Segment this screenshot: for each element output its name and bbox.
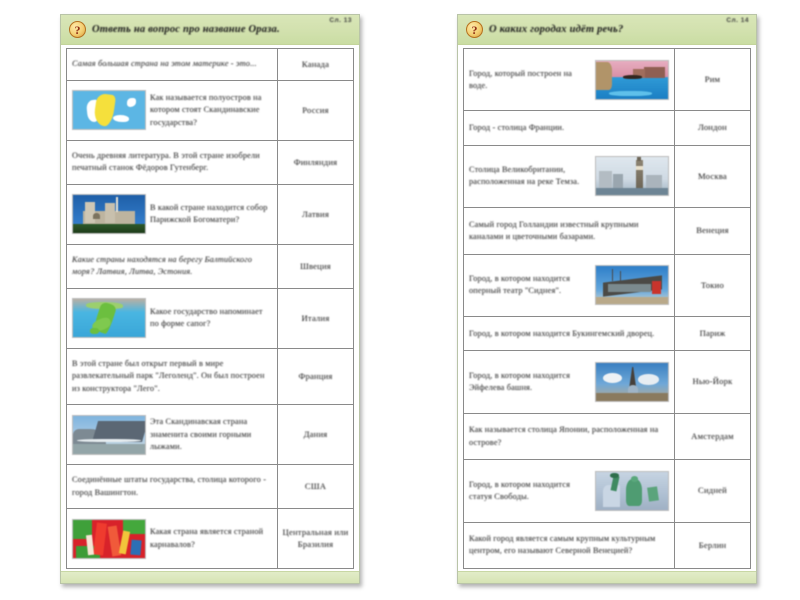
question-text: Какая страна является страной карнавалов… xyxy=(150,526,272,550)
question-cell: Какое государство напоминает по форме са… xyxy=(67,289,277,348)
table-row[interactable]: Город, в котором находится Эйфелева башн… xyxy=(463,350,751,412)
question-text: Город, в котором находится Букингемский … xyxy=(469,328,669,340)
answer-cell: Швеция xyxy=(277,245,353,288)
venice-photo-image xyxy=(595,60,669,100)
answer-cell: Италия xyxy=(277,289,353,348)
answer-cell: Берлин xyxy=(674,523,750,568)
question-cell: Город, в котором находится Эйфелева башн… xyxy=(464,351,674,412)
answer-cell: Рим xyxy=(674,49,750,110)
question-cell: Очень древняя литература. В этой стране … xyxy=(67,141,277,184)
answer-cell: Канада xyxy=(277,49,353,80)
answer-text: Лондон xyxy=(698,122,727,134)
answer-text: США xyxy=(305,481,326,493)
slide-title: О каких городах идёт речь? xyxy=(489,24,623,35)
slide-header-left: ? Ответь на вопрос про название Ораза. С… xyxy=(61,15,359,45)
answer-text: Латвия xyxy=(302,209,329,221)
table-row[interactable]: Очень древняя литература. В этой стране … xyxy=(66,140,354,184)
question-cell: Самая большая страна на этом материке - … xyxy=(67,49,277,80)
answer-cell: Лондон xyxy=(674,111,750,144)
slide-geography-cities[interactable]: ? О каких городах идёт речь? Сл. 14 Горо… xyxy=(457,14,757,584)
question-text: Город - столица Франции. xyxy=(469,122,669,134)
question-cell: Самый город Голландии известный крупными… xyxy=(464,208,674,253)
question-text: Соединённые штаты государства, столица к… xyxy=(72,474,272,498)
question-text: Самый город Голландии известный крупными… xyxy=(469,219,669,243)
question-text: Как называется столица Японии, расположе… xyxy=(469,424,669,448)
answer-text: Дания xyxy=(304,429,328,441)
answer-cell: Финляндия xyxy=(277,141,353,184)
bridge-photo-image xyxy=(72,415,146,455)
slide-geography-countries[interactable]: ? Ответь на вопрос про название Ораза. С… xyxy=(60,14,360,584)
question-cell: Какие страны находятся на берегу Балтийс… xyxy=(67,245,277,288)
table-row[interactable]: Город, в котором находится статуя Свобод… xyxy=(463,459,751,521)
question-text: Какие страны находятся на берегу Балтийс… xyxy=(72,254,272,278)
table-row[interactable]: Город, в котором находится Букингемский … xyxy=(463,316,751,350)
table-row[interactable]: Какие страны находятся на берегу Балтийс… xyxy=(66,244,354,288)
question-text: Очень древняя литература. В этой стране … xyxy=(72,150,272,174)
scandinavia-map-image xyxy=(72,90,146,130)
question-cell: Соединённые штаты государства, столица к… xyxy=(67,465,277,508)
question-text: Какой город является самым крупным культ… xyxy=(469,533,669,557)
question-cell: Город, в котором находится оперный театр… xyxy=(464,255,674,316)
slide-footer-right xyxy=(458,571,756,583)
question-cell: Город, который построен на воде. xyxy=(464,49,674,110)
eiffel-photo-image xyxy=(595,362,669,402)
table-row[interactable]: Как называется столица Японии, расположе… xyxy=(463,413,751,459)
table-row[interactable]: Какое государство напоминает по форме са… xyxy=(66,288,354,348)
table-row[interactable]: Самый город Голландии известный крупными… xyxy=(463,207,751,253)
question-text: Город, в котором находится оперный театр… xyxy=(469,273,591,297)
answer-text: Италия xyxy=(302,313,330,325)
answer-cell: Амстердам xyxy=(674,414,750,459)
question-cell: Город, в котором находится статуя Свобод… xyxy=(464,460,674,521)
question-cell: Город - столица Франции. xyxy=(464,111,674,144)
modern-building-photo-image xyxy=(595,265,669,305)
slide-title: Ответь на вопрос про название Ораза. xyxy=(92,24,280,35)
answer-text: Канада xyxy=(302,59,329,71)
answer-text: Москва xyxy=(698,171,727,183)
question-cell: В этой стране был открыт первый в мире р… xyxy=(67,349,277,404)
question-cell: Столица Великобритании, расположенная на… xyxy=(464,146,674,207)
cathedral-photo-image xyxy=(72,194,146,234)
carnival-photo-image xyxy=(72,519,146,559)
answer-cell: Латвия xyxy=(277,185,353,244)
answer-cell: Россия xyxy=(277,81,353,140)
question-mark-glyph: ? xyxy=(75,24,81,36)
question-text: Эта Скандинавская страна знаменита своим… xyxy=(150,416,272,452)
answer-cell: Франция xyxy=(277,349,353,404)
answer-text: Швеция xyxy=(300,261,331,273)
table-row[interactable]: Город - столица Франции. Лондон xyxy=(463,110,751,144)
question-text: Какое государство напоминает по форме са… xyxy=(150,306,272,330)
answer-text: Центральная или Бразилия xyxy=(281,527,350,550)
question-text: Город, который построен на воде. xyxy=(469,68,591,92)
answer-text: Берлин xyxy=(699,540,727,552)
question-text: Город, в котором находится Эйфелева башн… xyxy=(469,370,591,394)
table-row[interactable]: Как называется полуостров на котором сто… xyxy=(66,80,354,140)
question-cell: Как называется полуостров на котором сто… xyxy=(67,81,277,140)
london-photo-image xyxy=(595,156,669,196)
answer-cell: Нью-Йорк xyxy=(674,351,750,412)
answer-cell: Москва xyxy=(674,146,750,207)
answer-text: Токио xyxy=(701,280,724,292)
table-row[interactable]: Какой город является самым крупным культ… xyxy=(463,522,751,569)
italy-map-image xyxy=(72,298,146,338)
question-text: Как называется полуостров на котором сто… xyxy=(150,92,272,128)
quiz-table-left: Самая большая страна на этом материке - … xyxy=(61,45,359,571)
question-cell: Город, в котором находится Букингемский … xyxy=(464,317,674,350)
slide-number: Сл. 13 xyxy=(329,17,352,24)
question-cell: Как называется столица Японии, расположе… xyxy=(464,414,674,459)
quiz-table-right: Город, который построен на воде. Рим Гор… xyxy=(458,45,756,571)
answer-cell: Токио xyxy=(674,255,750,316)
answer-text: Россия xyxy=(302,105,328,117)
question-cell: Какой город является самым крупным культ… xyxy=(464,523,674,568)
question-text: Столица Великобритании, расположенная на… xyxy=(469,164,591,188)
table-row[interactable]: Эта Скандинавская страна знаменита своим… xyxy=(66,404,354,464)
question-mark-icon: ? xyxy=(69,21,86,38)
question-mark-glyph: ? xyxy=(472,24,478,36)
answer-text: Сидней xyxy=(698,485,727,497)
answer-text: Амстердам xyxy=(691,431,734,443)
question-mark-icon: ? xyxy=(466,21,483,38)
answer-text: Париж xyxy=(700,328,726,340)
table-row[interactable]: В какой стране находится собор Парижской… xyxy=(66,184,354,244)
liberty-photo-image xyxy=(595,471,669,511)
table-row[interactable]: Город, в котором находится оперный театр… xyxy=(463,254,751,316)
table-row[interactable]: В этой стране был открыт первый в мире р… xyxy=(66,348,354,404)
answer-cell: Сидней xyxy=(674,460,750,521)
question-cell: Эта Скандинавская страна знаменита своим… xyxy=(67,405,277,464)
question-cell: В какой стране находится собор Парижской… xyxy=(67,185,277,244)
answer-text: Франция xyxy=(298,371,332,383)
answer-cell: Венеция xyxy=(674,208,750,253)
slide-header-right: ? О каких городах идёт речь? Сл. 14 xyxy=(458,15,756,45)
slide-number: Сл. 14 xyxy=(726,17,749,24)
answer-text: Финляндия xyxy=(294,157,338,169)
answer-text: Рим xyxy=(705,74,720,86)
slide-footer-left xyxy=(61,571,359,583)
answer-text: Венеция xyxy=(696,225,729,237)
answer-cell: Париж xyxy=(674,317,750,350)
table-row[interactable]: Какая страна является страной карнавалов… xyxy=(66,508,354,569)
table-row[interactable]: Соединённые штаты государства, столица к… xyxy=(66,464,354,508)
answer-cell: Дания xyxy=(277,405,353,464)
answer-text: Нью-Йорк xyxy=(693,376,733,388)
table-row[interactable]: Город, который построен на воде. Рим xyxy=(463,48,751,110)
question-text: В этой стране был открыт первый в мире р… xyxy=(72,358,272,394)
table-row[interactable]: Самая большая страна на этом материке - … xyxy=(66,48,354,80)
question-text: Город, в котором находится статуя Свобод… xyxy=(469,479,591,503)
question-cell: Какая страна является страной карнавалов… xyxy=(67,509,277,568)
slides-canvas: ? Ответь на вопрос про название Ораза. С… xyxy=(0,0,800,600)
table-row[interactable]: Столица Великобритании, расположенная на… xyxy=(463,145,751,207)
question-text: Самая большая страна на этом материке - … xyxy=(72,58,272,70)
answer-cell: Центральная или Бразилия xyxy=(277,509,353,568)
answer-cell: США xyxy=(277,465,353,508)
question-text: В какой стране находится собор Парижской… xyxy=(150,202,272,226)
